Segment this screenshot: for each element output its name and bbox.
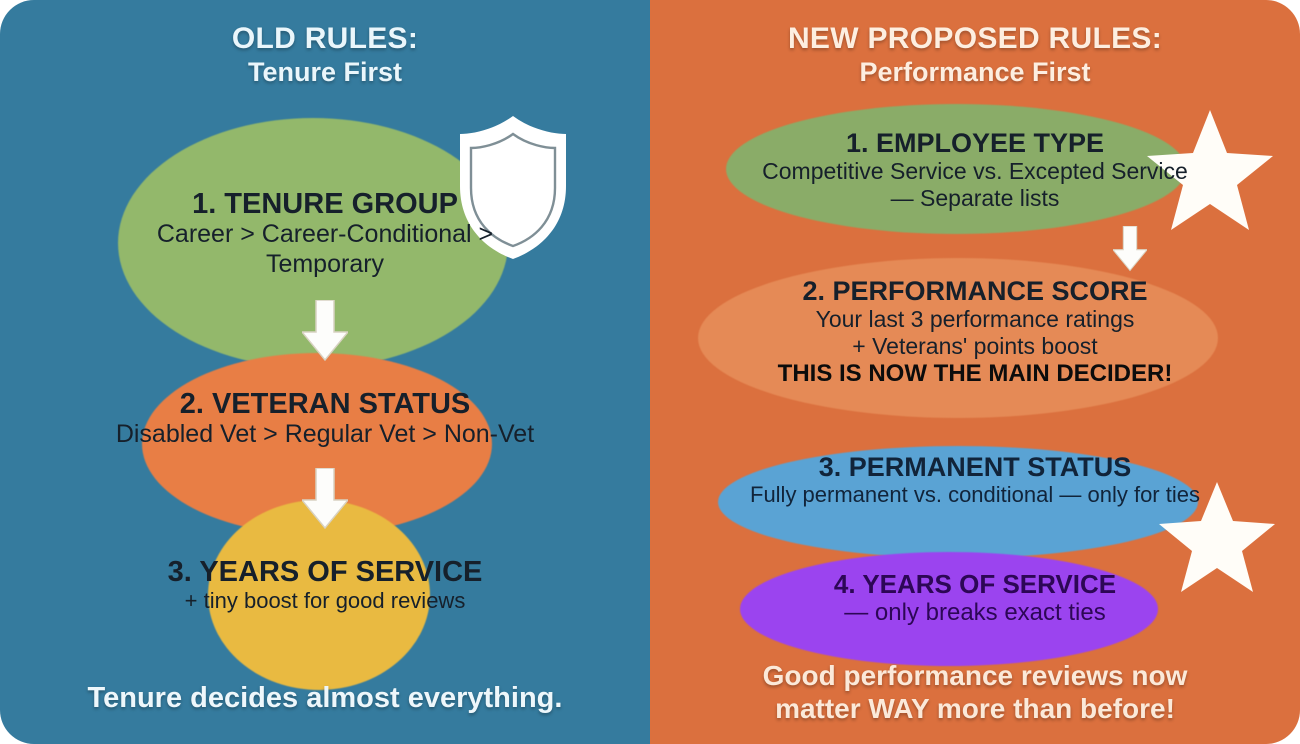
down-arrow-1: [1113, 226, 1147, 272]
infographic-root: OLD RULES: Tenure First 1. TENURE GROUP …: [0, 0, 1300, 744]
down-arrow-1: [302, 300, 348, 362]
blob-permanent-status: [718, 446, 1198, 558]
left-panel-heading: OLD RULES: Tenure First: [0, 22, 650, 88]
right-heading-line2: Performance First: [650, 56, 1300, 88]
right-heading-line1: NEW PROPOSED RULES:: [650, 22, 1300, 56]
left-heading-line1: OLD RULES:: [0, 22, 650, 56]
left-heading-line2: Tenure First: [0, 56, 650, 88]
right-panel-footer: Good performance reviews now matter WAY …: [650, 659, 1300, 726]
right-panel-heading: NEW PROPOSED RULES: Performance First: [650, 22, 1300, 88]
blob-years-of-service-r: [740, 552, 1158, 666]
panel-old-rules: OLD RULES: Tenure First 1. TENURE GROUP …: [0, 0, 650, 744]
blob-performance-score: [698, 258, 1218, 418]
blob-employee-type: [726, 104, 1186, 234]
star-icon: [1146, 108, 1274, 234]
shield-icon: [452, 112, 574, 262]
panel-new-proposed-rules: NEW PROPOSED RULES: Performance First 1.…: [650, 0, 1300, 744]
right-footer-line2: matter WAY more than before!: [650, 692, 1300, 726]
star-icon: [1158, 480, 1276, 596]
down-arrow-2: [302, 468, 348, 530]
